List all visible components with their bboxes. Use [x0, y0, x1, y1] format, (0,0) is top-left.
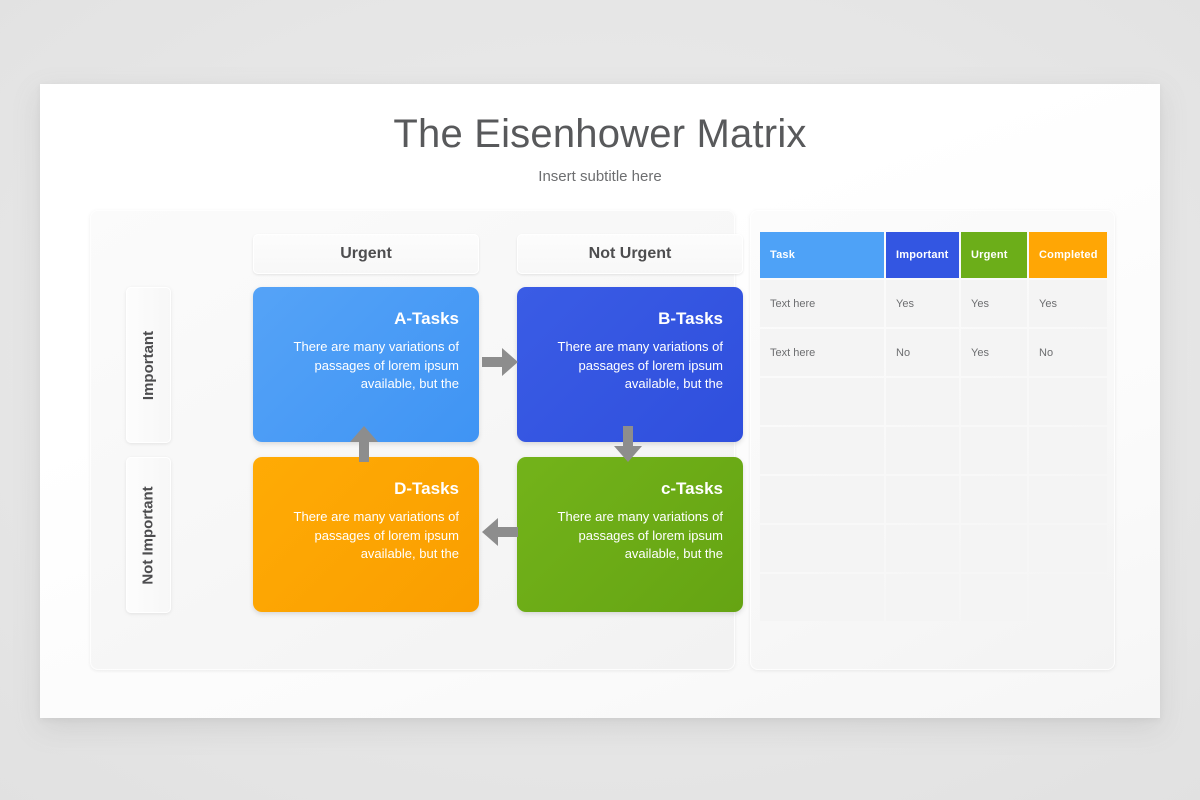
table-cell-completed[interactable]: No — [1029, 329, 1107, 376]
column-header-urgent-label: Urgent — [340, 245, 392, 263]
column-header-urgent[interactable]: Urgent — [253, 234, 479, 274]
table-cell-important[interactable] — [886, 378, 959, 425]
page-subtitle: Insert subtitle here — [40, 168, 1160, 185]
table-row[interactable] — [760, 574, 1107, 621]
quadrant-body-a: There are many variations of passages of… — [271, 338, 459, 393]
table-cell-completed[interactable] — [1029, 378, 1107, 425]
table-cell-task[interactable]: Text here — [760, 280, 884, 327]
quadrant-title-d: D-Tasks — [271, 479, 459, 499]
table-cell-task[interactable] — [760, 525, 884, 572]
table-cell-important[interactable] — [886, 427, 959, 474]
table-row[interactable] — [760, 476, 1107, 523]
quadrant-card-a-tasks[interactable]: A-Tasks There are many variations of pas… — [253, 287, 479, 442]
quadrant-card-b-tasks[interactable]: B-Tasks There are many variations of pas… — [517, 287, 743, 442]
table-cell-urgent[interactable] — [961, 574, 1027, 621]
table-cell-completed[interactable]: Yes — [1029, 280, 1107, 327]
arrow-right-icon — [482, 348, 518, 376]
table-cell-urgent[interactable]: Yes — [961, 280, 1027, 327]
arrow-left-icon — [482, 518, 518, 546]
table-cell-completed[interactable] — [1029, 574, 1107, 621]
table-cell-completed[interactable] — [1029, 525, 1107, 572]
task-table: Task Important Urgent Completed Text her… — [758, 230, 1109, 623]
table-row[interactable]: Text here No Yes No — [760, 329, 1107, 376]
table-cell-completed[interactable] — [1029, 427, 1107, 474]
column-header-not-urgent-label: Not Urgent — [589, 245, 672, 263]
row-header-important-label: Important — [140, 330, 157, 399]
quadrant-title-b: B-Tasks — [535, 309, 723, 329]
task-table-panel: Task Important Urgent Completed Text her… — [750, 210, 1115, 670]
title-block: The Eisenhower Matrix Insert subtitle he… — [40, 112, 1160, 185]
presentation-slide: The Eisenhower Matrix Insert subtitle he… — [40, 84, 1160, 718]
quadrant-card-c-tasks[interactable]: c-Tasks There are many variations of pas… — [517, 457, 743, 612]
table-row[interactable] — [760, 525, 1107, 572]
task-table-body: Text here Yes Yes Yes Text here No Yes N… — [760, 280, 1107, 621]
table-cell-important[interactable]: Yes — [886, 280, 959, 327]
table-cell-urgent[interactable] — [961, 525, 1027, 572]
quadrant-title-c: c-Tasks — [535, 479, 723, 499]
table-cell-completed[interactable] — [1029, 476, 1107, 523]
table-cell-urgent[interactable] — [961, 378, 1027, 425]
quadrant-card-d-tasks[interactable]: D-Tasks There are many variations of pas… — [253, 457, 479, 612]
row-header-not-important-label: Not Important — [140, 486, 157, 584]
table-cell-task[interactable] — [760, 476, 884, 523]
column-header-not-urgent[interactable]: Not Urgent — [517, 234, 743, 274]
quadrant-body-b: There are many variations of passages of… — [535, 338, 723, 393]
table-cell-important[interactable] — [886, 525, 959, 572]
table-row[interactable] — [760, 378, 1107, 425]
table-row[interactable]: Text here Yes Yes Yes — [760, 280, 1107, 327]
quadrant-body-d: There are many variations of passages of… — [271, 508, 459, 563]
table-header-urgent[interactable]: Urgent — [961, 232, 1027, 278]
quadrant-body-c: There are many variations of passages of… — [535, 508, 723, 563]
table-cell-task[interactable] — [760, 574, 884, 621]
eisenhower-matrix-panel: Urgent Not Urgent Important Not Importan… — [90, 210, 735, 670]
quadrant-title-a: A-Tasks — [271, 309, 459, 329]
row-header-important[interactable]: Important — [126, 287, 171, 443]
table-header-completed[interactable]: Completed — [1029, 232, 1107, 278]
table-cell-important[interactable] — [886, 476, 959, 523]
table-header-row: Task Important Urgent Completed — [760, 232, 1107, 278]
table-cell-urgent[interactable] — [961, 427, 1027, 474]
table-header-important[interactable]: Important — [886, 232, 959, 278]
table-cell-important[interactable] — [886, 574, 959, 621]
table-cell-urgent[interactable]: Yes — [961, 329, 1027, 376]
row-header-not-important[interactable]: Not Important — [126, 457, 171, 613]
page-title: The Eisenhower Matrix — [40, 112, 1160, 156]
task-table-head: Task Important Urgent Completed — [760, 232, 1107, 278]
table-header-task[interactable]: Task — [760, 232, 884, 278]
table-cell-important[interactable]: No — [886, 329, 959, 376]
table-cell-urgent[interactable] — [961, 476, 1027, 523]
table-cell-task[interactable] — [760, 427, 884, 474]
table-cell-task[interactable] — [760, 378, 884, 425]
table-cell-task[interactable]: Text here — [760, 329, 884, 376]
table-row[interactable] — [760, 427, 1107, 474]
arrow-up-icon — [350, 426, 378, 462]
arrow-down-icon — [614, 426, 642, 462]
